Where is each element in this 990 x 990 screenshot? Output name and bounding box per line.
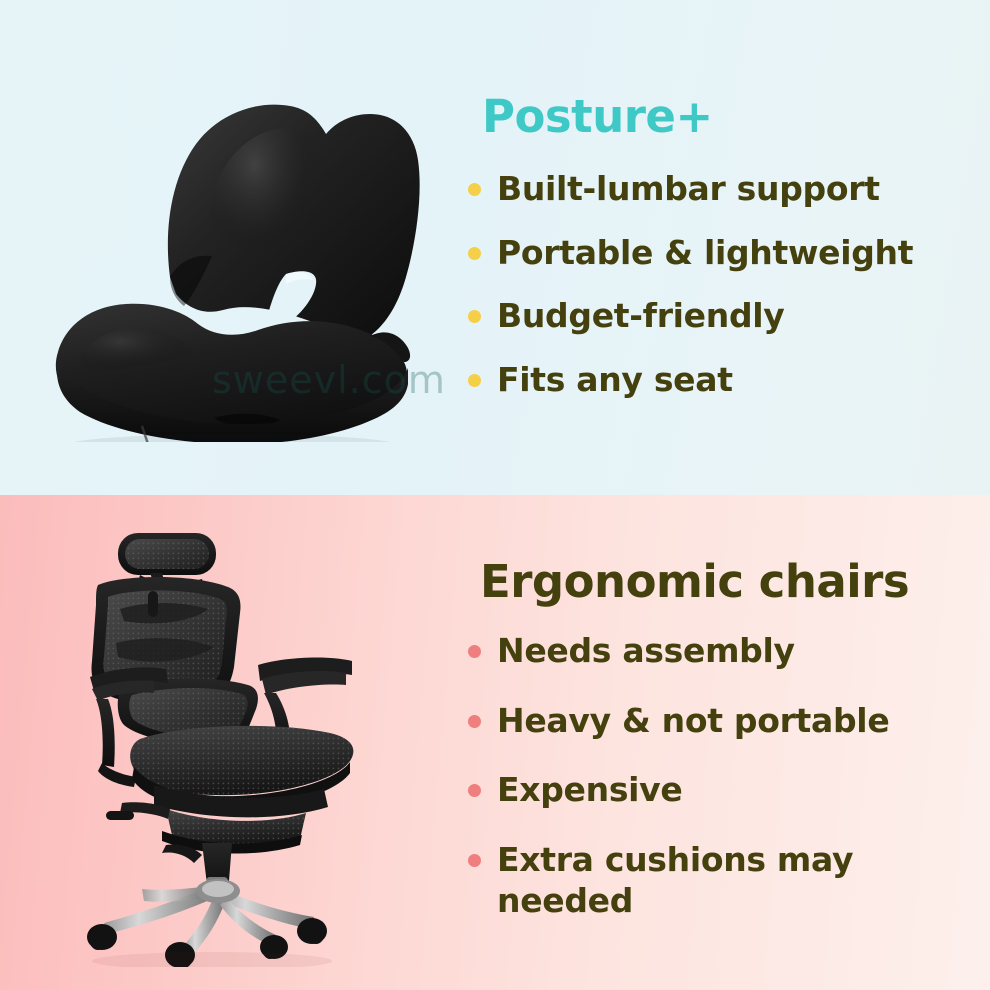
list-item-label: Heavy & not portable bbox=[497, 700, 889, 742]
posture-plus-benefit-list: Built-lumbar support Portable & lightwei… bbox=[468, 168, 913, 422]
list-item: Expensive bbox=[468, 769, 889, 811]
bullet-dot-icon bbox=[468, 715, 481, 728]
ergonomic-chairs-heading: Ergonomic chairs bbox=[480, 555, 909, 608]
ergonomic-chairs-text-column: Ergonomic chairs Needs assembly Heavy & … bbox=[460, 495, 990, 990]
list-item: Heavy & not portable bbox=[468, 700, 889, 742]
list-item-label: Expensive bbox=[497, 769, 682, 811]
list-item-label: Built-lumbar support bbox=[497, 168, 880, 210]
bullet-dot-icon bbox=[468, 183, 481, 196]
bullet-dot-icon bbox=[468, 374, 481, 387]
posture-plus-text-column: Posture+ Built-lumbar support Portable &… bbox=[460, 0, 990, 495]
comparison-infographic: sweevl.com Posture+ Built-lumbar support… bbox=[0, 0, 990, 990]
list-item-label: Budget-friendly bbox=[497, 295, 785, 337]
list-item: Needs assembly bbox=[468, 630, 889, 672]
list-item: Fits any seat bbox=[468, 359, 913, 401]
panel-ergonomic-chairs: Ergonomic chairs Needs assembly Heavy & … bbox=[0, 495, 990, 990]
list-item: Extra cushions may needed bbox=[468, 839, 889, 922]
panel-posture-plus: sweevl.com Posture+ Built-lumbar support… bbox=[0, 0, 990, 495]
bullet-dot-icon bbox=[468, 784, 481, 797]
list-item: Portable & lightweight bbox=[468, 232, 913, 274]
ergonomic-chairs-drawback-list: Needs assembly Heavy & not portable Expe… bbox=[468, 630, 889, 950]
list-item-label: Portable & lightweight bbox=[497, 232, 913, 274]
bullet-dot-icon bbox=[468, 310, 481, 323]
posture-seat-cushion-icon bbox=[18, 62, 438, 446]
bullet-dot-icon bbox=[468, 854, 481, 867]
ergonomic-office-chair-icon bbox=[62, 517, 402, 971]
posture-cushion-image-container: sweevl.com bbox=[0, 0, 460, 495]
bullet-dot-icon bbox=[468, 247, 481, 260]
ergonomic-chair-image-container bbox=[0, 495, 460, 990]
list-item: Budget-friendly bbox=[468, 295, 913, 337]
bullet-dot-icon bbox=[468, 645, 481, 658]
posture-plus-heading: Posture+ bbox=[482, 90, 713, 143]
list-item-label: Needs assembly bbox=[497, 630, 795, 672]
list-item: Built-lumbar support bbox=[468, 168, 913, 210]
list-item-label: Extra cushions may needed bbox=[497, 839, 877, 922]
list-item-label: Fits any seat bbox=[497, 359, 733, 401]
